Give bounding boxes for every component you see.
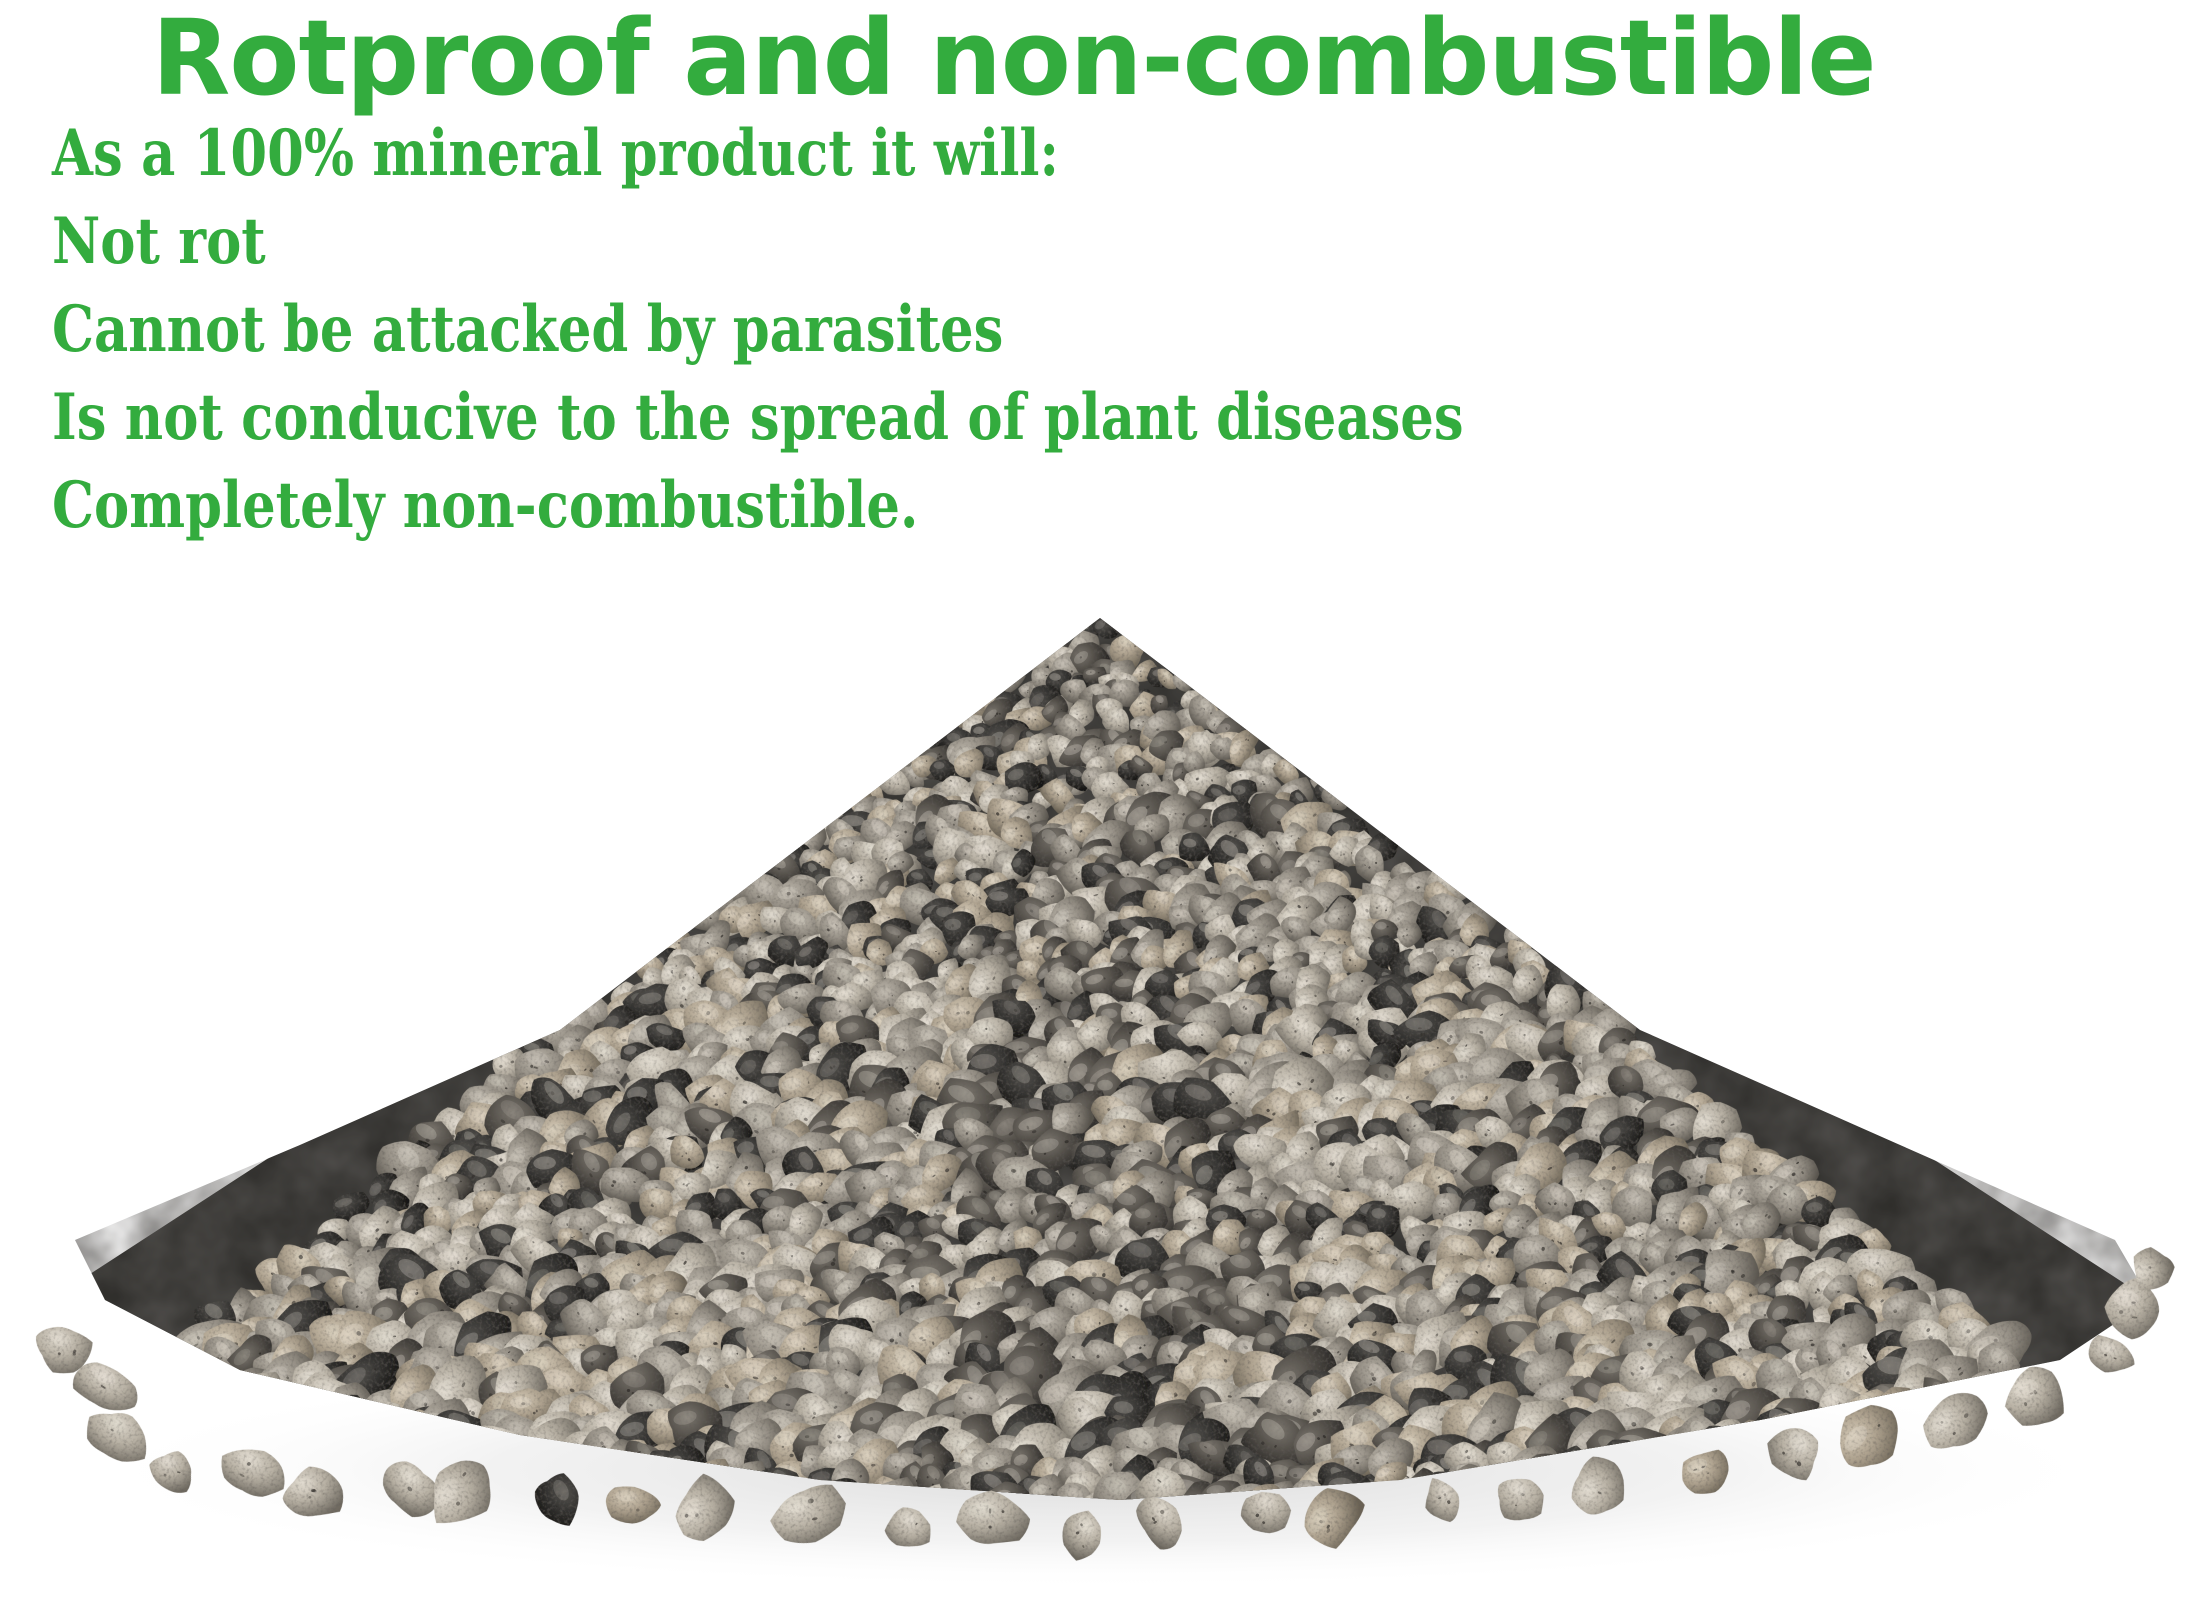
pebble-pore bbox=[711, 901, 714, 904]
pebble-pile-illustration bbox=[0, 600, 2200, 1600]
pebble-pore bbox=[1052, 647, 1055, 650]
pebble-pore bbox=[742, 884, 744, 886]
text-block: Rotproof and non-combustible As a 100% m… bbox=[0, 0, 2200, 536]
list-item-noncombust: Completely non-combustible. bbox=[52, 475, 1942, 539]
list-item-parasites: Cannot be attacked by parasites bbox=[52, 299, 1942, 363]
pebble-pore bbox=[1326, 782, 1329, 784]
pebble-pore bbox=[1322, 783, 1324, 785]
pebble-pore bbox=[1183, 678, 1184, 679]
pebble-highlight bbox=[998, 670, 1013, 684]
pebble-highlight bbox=[894, 751, 906, 763]
pebble-highlight bbox=[951, 699, 967, 710]
pebble-highlight bbox=[1028, 649, 1040, 659]
pebble-pore bbox=[945, 728, 948, 730]
pebble-pore bbox=[941, 729, 944, 732]
page-title: Rotproof and non-combustible bbox=[0, 0, 2156, 116]
pebble-highlight bbox=[706, 884, 724, 900]
pebble-pore bbox=[1186, 679, 1188, 680]
pebble-pore bbox=[567, 1015, 571, 1018]
clay-pebble-pile-image bbox=[0, 600, 2200, 1600]
list-item-intro: As a 100% mineral product it will: bbox=[52, 123, 1942, 187]
pebble-pore bbox=[730, 881, 733, 883]
pebble-pore bbox=[810, 833, 813, 836]
pebble-pore bbox=[994, 1041, 997, 1043]
pebble-highlight bbox=[999, 933, 1011, 940]
list-item-diseases: Is not conducive to the spread of plant … bbox=[52, 387, 1942, 451]
pebble-pore bbox=[1456, 882, 1460, 886]
pebble-pore bbox=[1333, 793, 1335, 795]
pebble-pore bbox=[901, 758, 903, 760]
pebble-highlight bbox=[1315, 771, 1331, 782]
pebble-highlight bbox=[724, 872, 742, 885]
pebble-highlight bbox=[861, 778, 876, 792]
pebble-pore bbox=[712, 893, 715, 895]
pebble-pore bbox=[1184, 677, 1186, 679]
pebble-pore bbox=[868, 785, 870, 787]
pebble-pore bbox=[1029, 656, 1032, 659]
pebble-pore bbox=[861, 789, 864, 792]
slide-canvas: Rotproof and non-combustible As a 100% m… bbox=[0, 0, 2200, 1600]
pebble-pore bbox=[1036, 657, 1038, 659]
pebble-pore bbox=[901, 762, 903, 764]
pebble-pore bbox=[1007, 676, 1009, 678]
pebble-highlight bbox=[976, 1022, 995, 1034]
pebble-highlight bbox=[693, 906, 711, 918]
benefit-list: As a 100% mineral product it will: Not r… bbox=[0, 124, 2200, 536]
list-item-not-rot: Not rot bbox=[52, 211, 1942, 275]
